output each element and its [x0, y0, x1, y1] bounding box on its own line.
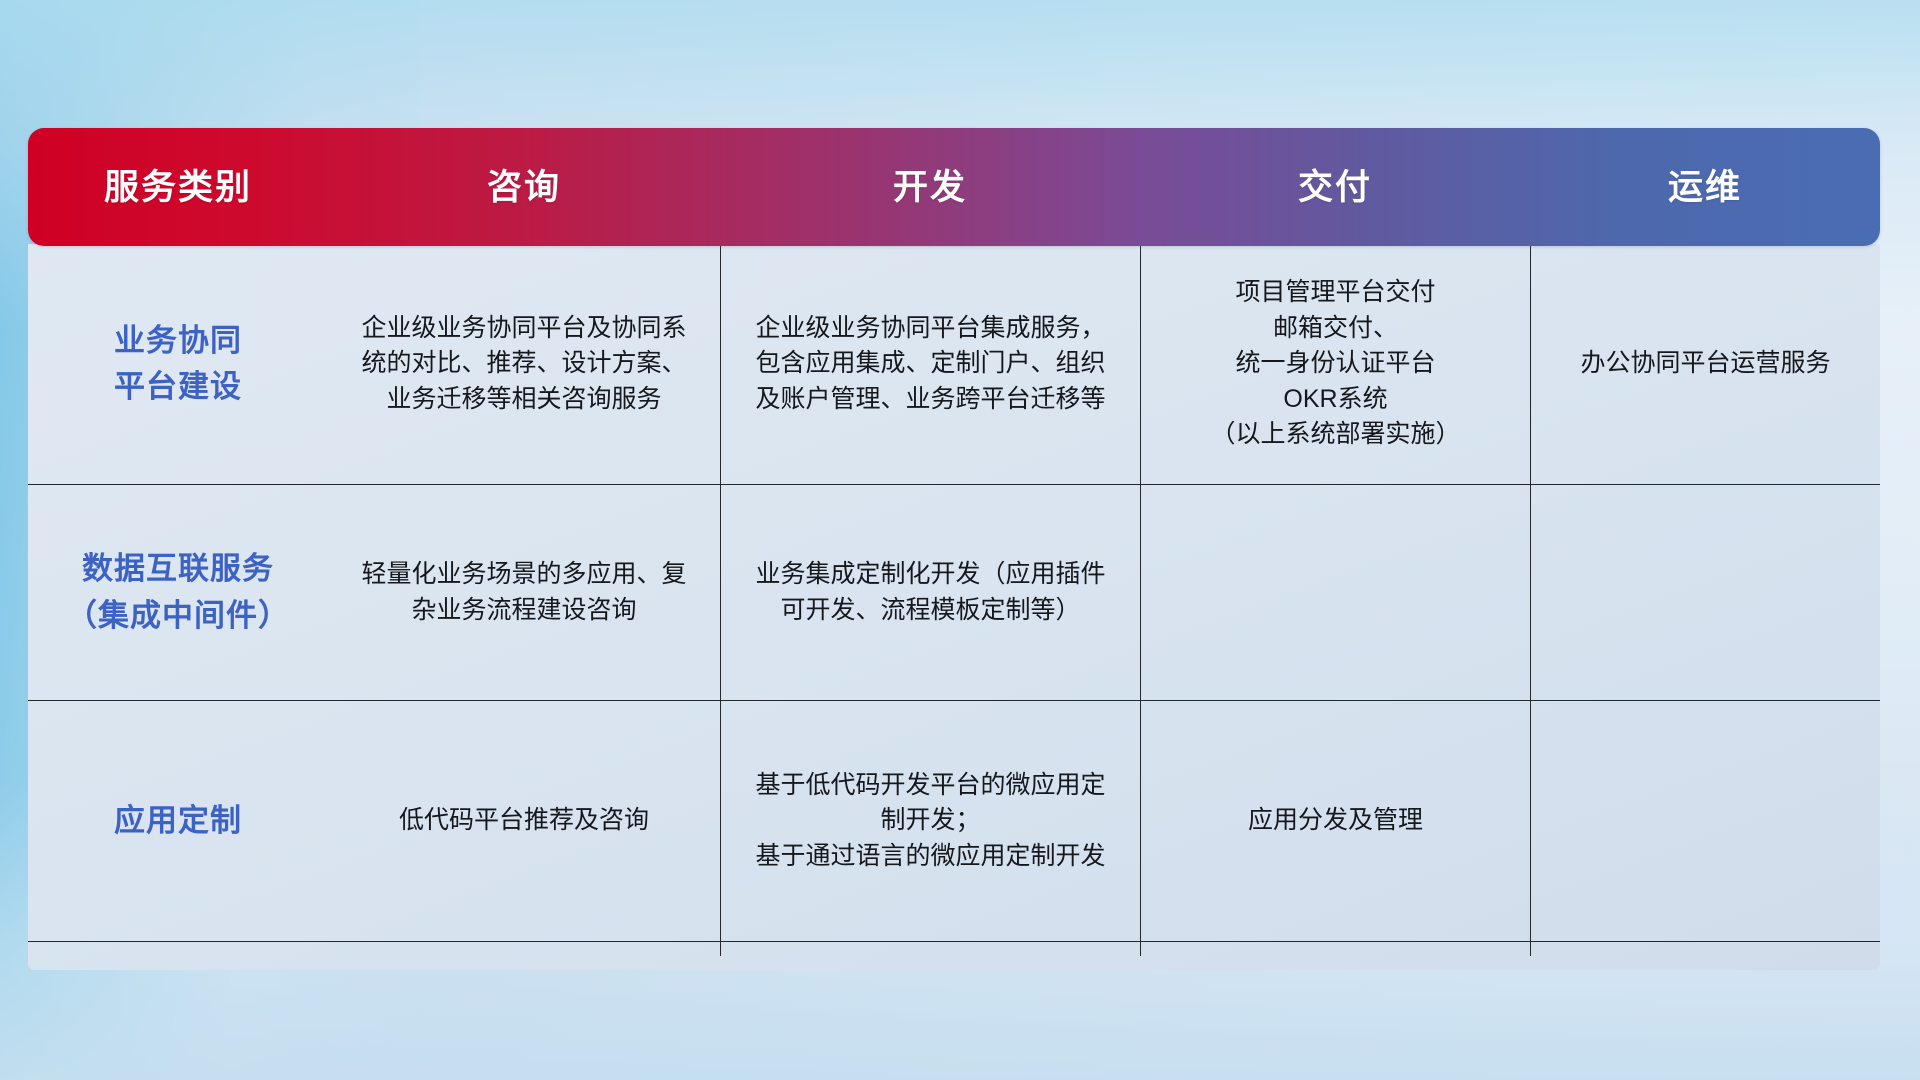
- stub-operations: [1530, 942, 1880, 956]
- cell-delivery: 应用分发及管理: [1140, 701, 1530, 941]
- stub-consulting: [328, 942, 720, 956]
- table-body: 业务协同 平台建设 企业级业务协同平台及协同系 统的对比、推荐、设计方案、 业务…: [28, 244, 1880, 970]
- cell-consulting: 低代码平台推荐及咨询: [328, 701, 720, 941]
- cell-delivery: 项目管理平台交付 邮箱交付、 统一身份认证平台 OKR系统 （以上系统部署实施）: [1140, 244, 1530, 484]
- cell-delivery: [1140, 485, 1530, 700]
- cell-development: 企业级业务协同平台集成服务， 包含应用集成、定制门户、组织 及账户管理、业务跨平…: [720, 244, 1140, 484]
- cell-consulting: 企业级业务协同平台及协同系 统的对比、推荐、设计方案、 业务迁移等相关咨询服务: [328, 244, 720, 484]
- cell-operations: 办公协同平台运营服务: [1530, 244, 1880, 484]
- table-row: 数据互联服务 （集成中间件） 轻量化业务场景的多应用、复 杂业务流程建设咨询 业…: [28, 485, 1880, 701]
- cell-consulting: 轻量化业务场景的多应用、复 杂业务流程建设咨询: [328, 485, 720, 700]
- slide-canvas: 服务类别 咨询 开发 交付 运维 业务协同 平台建设 企业级业务协同平台及协同系…: [0, 0, 1920, 1080]
- column-header-development: 开发: [720, 170, 1140, 205]
- row-category-label: 数据互联服务 （集成中间件）: [28, 485, 328, 700]
- column-header-delivery: 交付: [1140, 170, 1530, 205]
- row-category-label: 业务协同 平台建设: [28, 244, 328, 484]
- cell-operations: [1530, 701, 1880, 941]
- column-header-operations: 运维: [1530, 170, 1880, 205]
- cell-operations: [1530, 485, 1880, 700]
- stub-category: [28, 942, 328, 956]
- row-category-label: 应用定制: [28, 701, 328, 941]
- cell-development: 业务集成定制化开发（应用插件 可开发、流程模板定制等）: [720, 485, 1140, 700]
- stub-development: [720, 942, 1140, 956]
- stub-delivery: [1140, 942, 1530, 956]
- column-header-consulting: 咨询: [328, 170, 720, 205]
- table-row: 应用定制 低代码平台推荐及咨询 基于低代码开发平台的微应用定 制开发； 基于通过…: [28, 701, 1880, 942]
- cell-development: 基于低代码开发平台的微应用定 制开发； 基于通过语言的微应用定制开发: [720, 701, 1140, 941]
- column-header-service-category: 服务类别: [28, 170, 328, 205]
- table-row: 业务协同 平台建设 企业级业务协同平台及协同系 统的对比、推荐、设计方案、 业务…: [28, 244, 1880, 485]
- table-header-row: 服务类别 咨询 开发 交付 运维: [28, 128, 1880, 246]
- service-matrix-table: 服务类别 咨询 开发 交付 运维 业务协同 平台建设 企业级业务协同平台及协同系…: [28, 128, 1880, 970]
- table-bottom-divider-stubs: [28, 942, 1880, 956]
